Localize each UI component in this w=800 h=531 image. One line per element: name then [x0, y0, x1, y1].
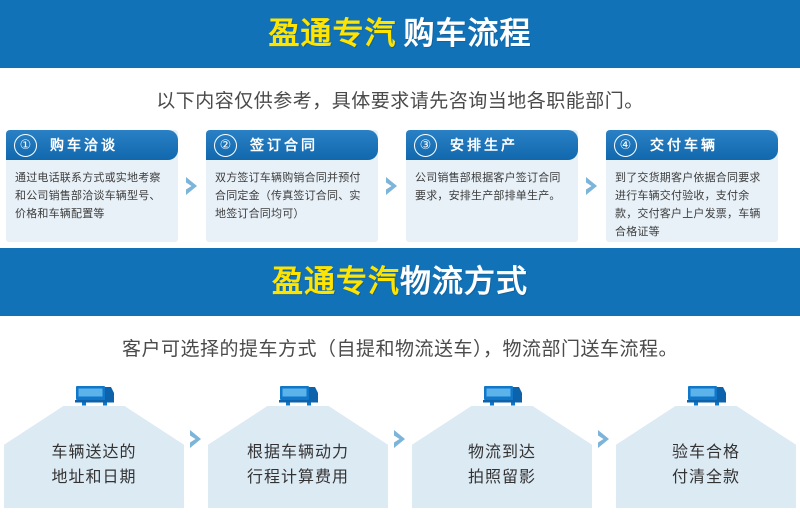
logistics-pentagon-2: 根据车辆动力 行程计算费用: [208, 406, 388, 508]
step-body-4: 到了交货期客户依据合同要求进行车辆交付验收，支付余款，交付客户上户发票，车辆合格…: [606, 160, 778, 242]
logistics-pentagon-1: 车辆送达的 地址和日期: [4, 406, 184, 508]
logistics-step-card-2[interactable]: 根据车辆动力 行程计算费用: [208, 383, 388, 509]
logistics-label-1-line1: 车辆送达的: [51, 440, 136, 465]
logistics-pentagon-4: 验车合格 付清全款: [616, 406, 796, 508]
logistics-label-2-line2: 行程计算费用: [247, 465, 349, 490]
step-title-4: 交付车辆: [650, 135, 718, 155]
step-body-1: 通过电话联系方式或实地考察和公司销售部洽谈车辆型号、价格和车辆配置等: [6, 160, 178, 223]
delivery-truck-icon: [71, 383, 117, 407]
logistics-label-2-line1: 根据车辆动力: [247, 440, 349, 465]
step-arrow-separator-2: [378, 130, 406, 242]
step-title-1: 购车洽谈: [50, 135, 118, 155]
logistics-steps-row: 车辆送达的 地址和日期 根据车辆动力 行程计算费用: [0, 378, 800, 509]
logistics-banner: 盈通专汽 物流方式: [0, 248, 800, 316]
chevron-right-icon: [597, 429, 611, 449]
delivery-truck-icon: [479, 383, 525, 407]
step-number-badge-2: ②: [214, 134, 237, 157]
purchase-step-header-1: ① 购车洽谈: [6, 130, 178, 160]
logistics-label-4-line1: 验车合格: [672, 440, 740, 465]
step-number-badge-3: ③: [414, 134, 437, 157]
logistics-label-3-line2: 拍照留影: [468, 465, 536, 490]
logistics-label-1-line2: 地址和日期: [51, 465, 136, 490]
step-arrow-separator-3: [578, 130, 606, 242]
logistics-arrow-separator-1: [184, 383, 208, 509]
delivery-truck-icon: [275, 383, 321, 407]
purchase-step-header-4: ④ 交付车辆: [606, 130, 778, 160]
logistics-banner-heading: 物流方式: [400, 267, 528, 298]
purchase-subtitle: 以下内容仅供参考，具体要求请先咨询当地各职能部门。: [156, 86, 644, 113]
chevron-right-icon: [385, 176, 399, 196]
purchase-step-header-3: ③ 安排生产: [406, 130, 578, 160]
logistics-step-card-3[interactable]: 物流到达 拍照留影: [412, 383, 592, 509]
logistics-label-3-line1: 物流到达: [468, 440, 536, 465]
logistics-subtitle: 客户可选择的提车方式（自提和物流送车），物流部门送车流程。: [122, 334, 678, 361]
brand-name-yellow: 盈通专汽: [269, 19, 397, 50]
step-body-2: 双方签订车辆购销合同并预付合同定金（传真签订合同、实地签订合同均可）: [206, 160, 378, 223]
step-title-2: 签订合同: [250, 135, 318, 155]
logistics-arrow-separator-2: [388, 383, 412, 509]
purchase-banner-title: 盈通专汽 购车流程: [269, 19, 532, 50]
purchase-banner: 盈通专汽 购车流程: [0, 0, 800, 68]
step-arrow-separator-1: [178, 130, 206, 242]
logistics-label-4-line2: 付清全款: [672, 465, 740, 490]
chevron-right-icon: [189, 429, 203, 449]
purchase-step-card-1[interactable]: ① 购车洽谈 通过电话联系方式或实地考察和公司销售部洽谈车辆型号、价格和车辆配置…: [6, 130, 178, 242]
logistics-arrow-separator-3: [592, 383, 616, 509]
delivery-truck-icon: [683, 383, 729, 407]
brand-name-yellow: 盈通专汽: [272, 267, 400, 298]
step-title-3: 安排生产: [450, 135, 518, 155]
step-body-3: 公司销售部根据客户签订合同要求，安排生产部排单生产。: [406, 160, 578, 205]
chevron-right-icon: [185, 176, 199, 196]
logistics-banner-title: 盈通专汽 物流方式: [272, 267, 528, 298]
purchase-steps-row: ① 购车洽谈 通过电话联系方式或实地考察和公司销售部洽谈车辆型号、价格和车辆配置…: [0, 130, 800, 248]
logistics-step-card-1[interactable]: 车辆送达的 地址和日期: [4, 383, 184, 509]
logistics-subtitle-wrap: 客户可选择的提车方式（自提和物流送车），物流部门送车流程。: [0, 316, 800, 378]
step-number-badge-1: ①: [14, 134, 37, 157]
chevron-right-icon: [585, 176, 599, 196]
purchase-step-card-3[interactable]: ③ 安排生产 公司销售部根据客户签订合同要求，安排生产部排单生产。: [406, 130, 578, 242]
purchase-step-card-2[interactable]: ② 签订合同 双方签订车辆购销合同并预付合同定金（传真签订合同、实地签订合同均可…: [206, 130, 378, 242]
purchase-banner-heading: 购车流程: [404, 19, 532, 50]
purchase-subtitle-wrap: 以下内容仅供参考，具体要求请先咨询当地各职能部门。: [0, 68, 800, 130]
step-number-badge-4: ④: [614, 134, 637, 157]
chevron-right-icon: [393, 429, 407, 449]
logistics-pentagon-3: 物流到达 拍照留影: [412, 406, 592, 508]
purchase-step-card-4[interactable]: ④ 交付车辆 到了交货期客户依据合同要求进行车辆交付验收，支付余款，交付客户上户…: [606, 130, 778, 242]
purchase-step-header-2: ② 签订合同: [206, 130, 378, 160]
logistics-step-card-4[interactable]: 验车合格 付清全款: [616, 383, 796, 509]
